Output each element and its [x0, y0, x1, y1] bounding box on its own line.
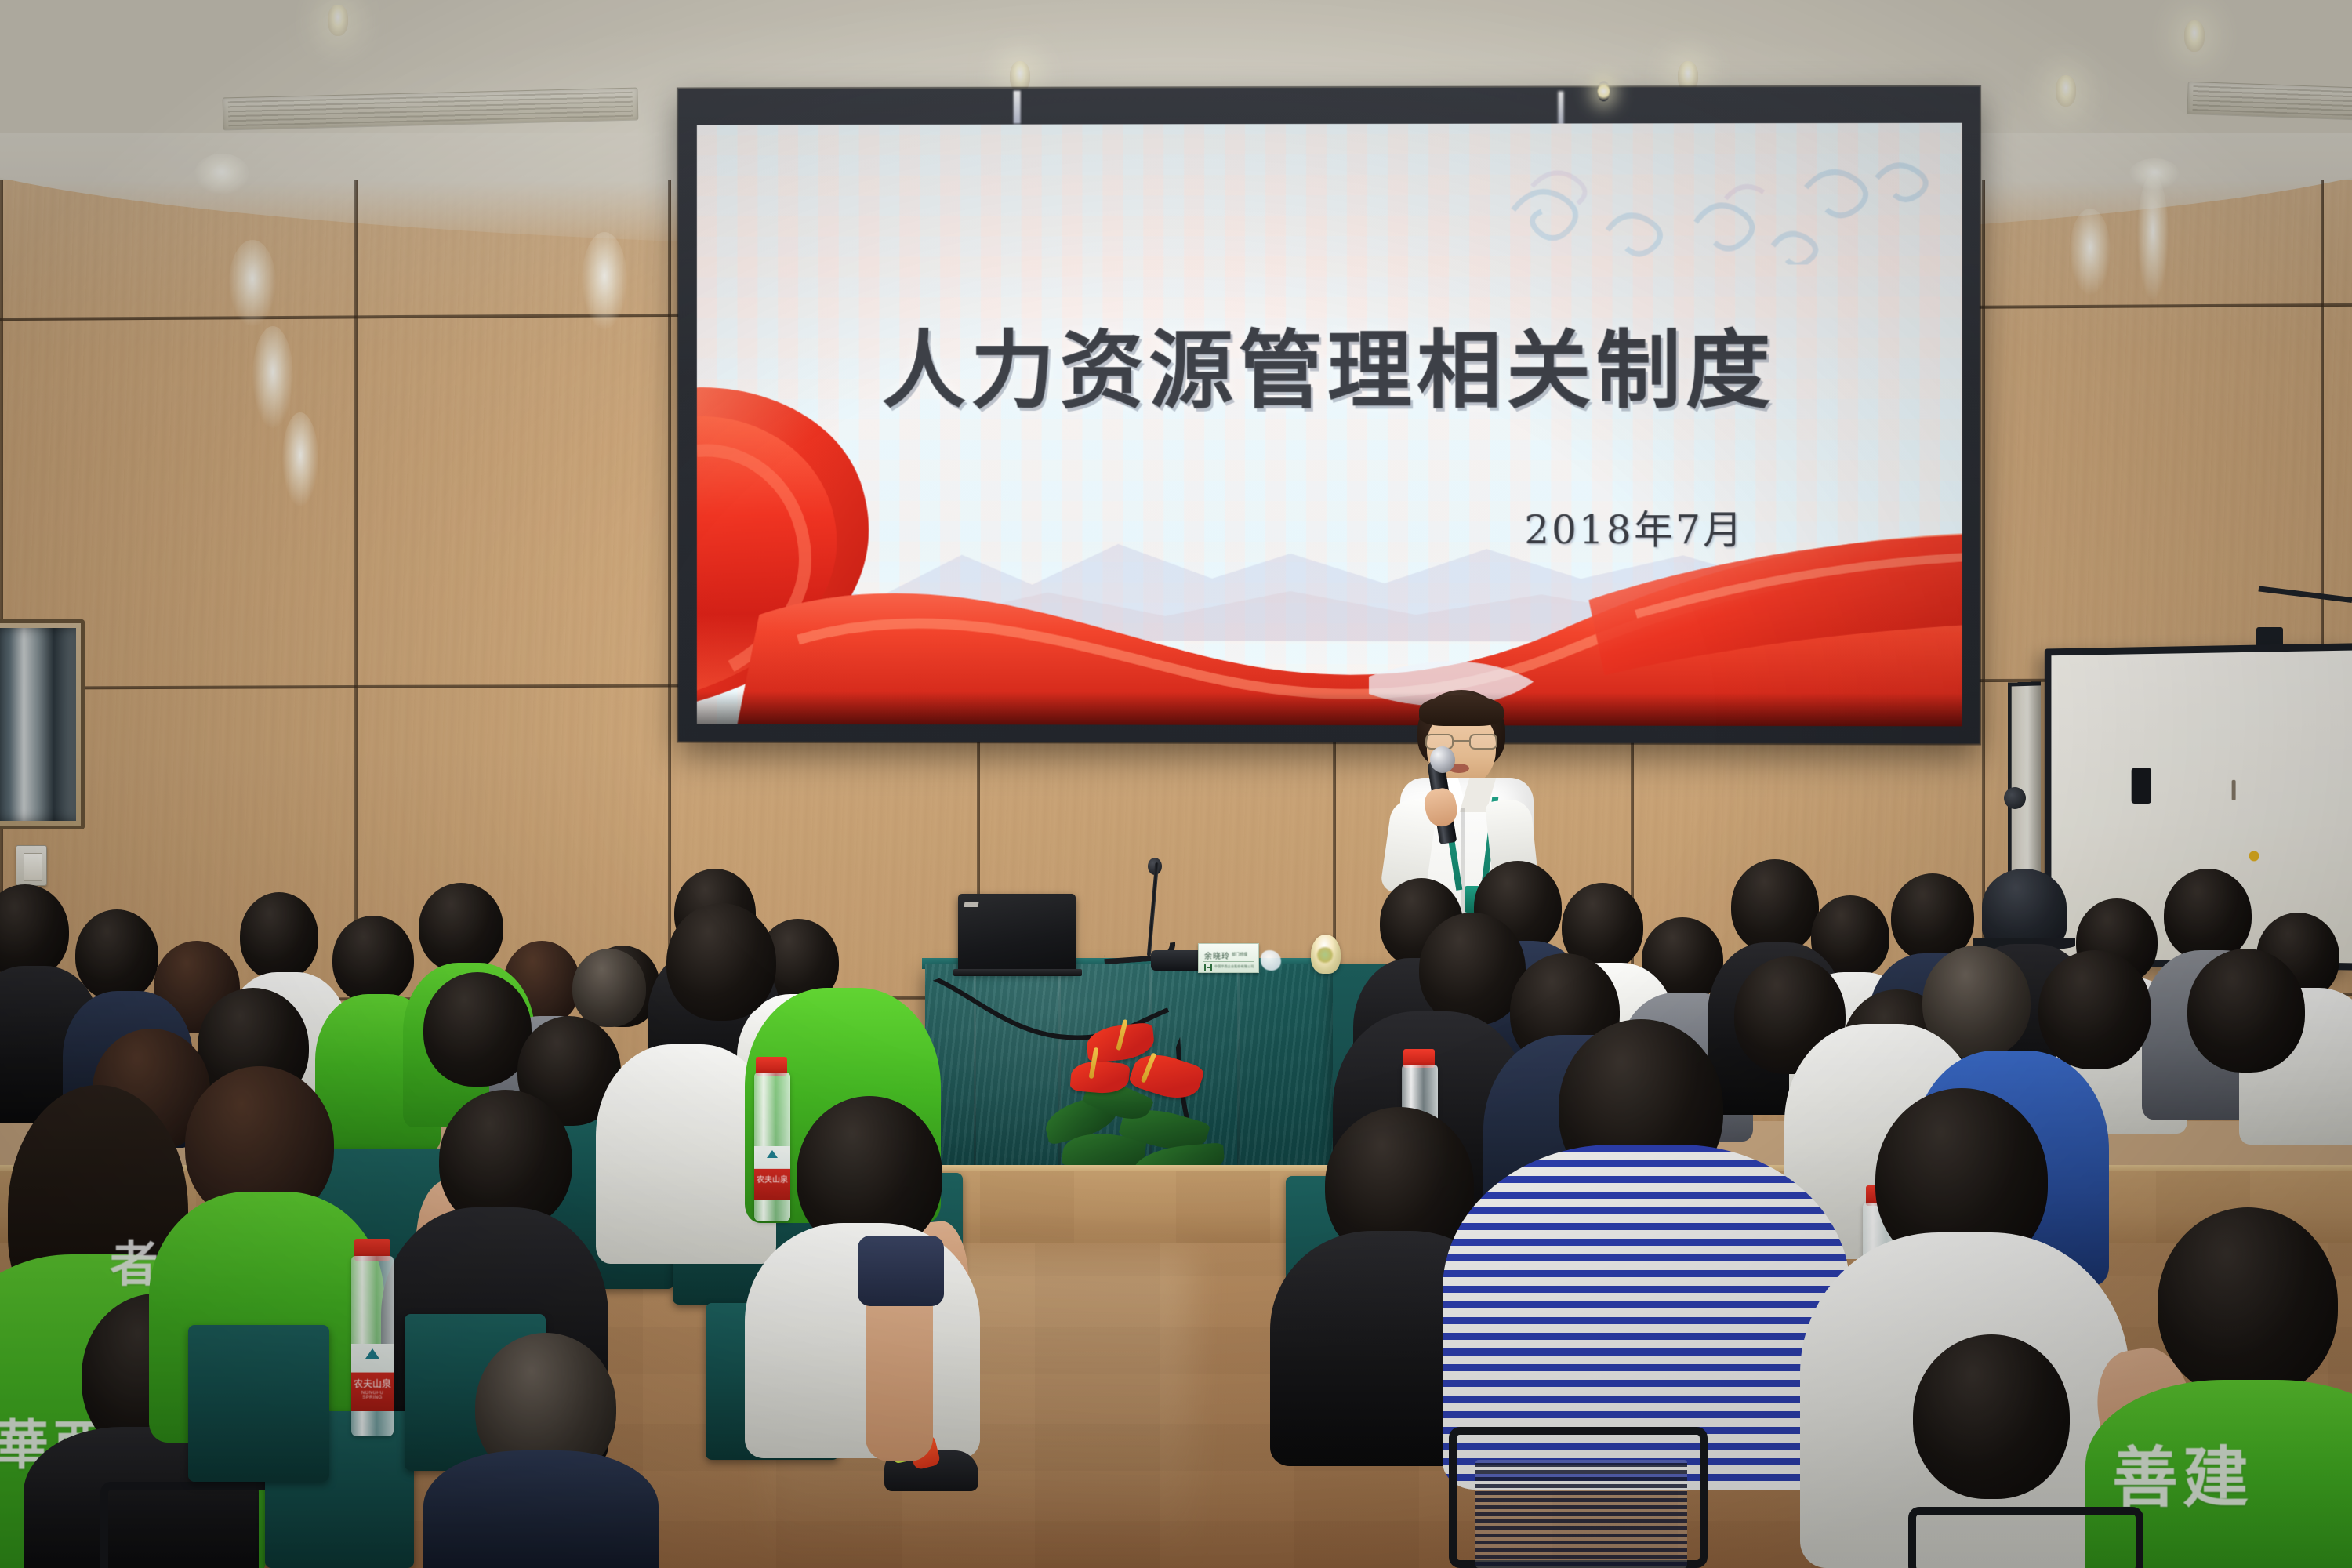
wall-reflection: [252, 326, 293, 428]
light-switch[interactable]: [16, 845, 47, 886]
name-card-role: 部门经理: [1232, 952, 1247, 957]
air-vent-icon: [2187, 82, 2352, 121]
wall-reflection: [229, 240, 276, 326]
red-ribbon-graphic: [697, 365, 1962, 727]
window-glass: [0, 628, 76, 821]
audience-head: [2164, 869, 2252, 961]
laptop-logo-icon: [964, 902, 978, 907]
photo-scene: 人力资源管理相关制度 2018年7月: [0, 0, 2352, 1568]
bottle-brand: 农夫山泉: [351, 1377, 394, 1390]
name-card-org: 中国华西企业股份有限公司: [1214, 964, 1254, 969]
bottle-logo-icon: [767, 1150, 778, 1158]
glasses-bridge: [1454, 740, 1469, 742]
chair-frame[interactable]: [1908, 1507, 2143, 1568]
cloud-swirl-icon: [1490, 154, 1930, 265]
wall-reflection: [2070, 209, 2111, 295]
audience-head: [419, 883, 503, 972]
audience-shorts: [858, 1236, 944, 1306]
bottle-label: 农夫山泉: [754, 1146, 790, 1200]
presenter-fringe: [1419, 695, 1504, 726]
bezel-highlight: [1014, 91, 1021, 124]
wall-reflection: [282, 412, 318, 506]
audience-head: [1913, 1334, 2070, 1499]
bottle-label: 农夫山泉 NONGFU SPRING: [351, 1344, 394, 1411]
laptop[interactable]: [958, 894, 1076, 972]
bottle-body: 农夫山泉 NONGFU SPRING: [351, 1256, 394, 1436]
audience-head: [1731, 859, 1819, 953]
audience-head: [75, 909, 158, 1000]
chair-mesh-seat: [1475, 1460, 1687, 1568]
projection-screen[interactable]: 人力资源管理相关制度 2018年7月: [678, 86, 1980, 743]
air-vent-icon: [223, 88, 639, 131]
audience-head: [332, 916, 414, 1004]
screen-vignette: [697, 691, 1962, 727]
whiteboard-knob[interactable]: [2004, 787, 2026, 809]
audience-head: [666, 903, 776, 1021]
bottle-logo-icon: [365, 1348, 379, 1359]
bottle-brand: 农夫山泉: [754, 1173, 790, 1185]
chair-frame[interactable]: [100, 1482, 289, 1568]
downlight-icon: [2056, 75, 2076, 107]
bottle-brand-en: NONGFU SPRING: [351, 1391, 394, 1400]
chair-back[interactable]: [188, 1325, 329, 1482]
audience-head: [2038, 950, 2151, 1069]
downlight-icon: [328, 5, 348, 36]
desk-name-card: 余晓玲 部门经理 中国华西企业股份有限公司: [1198, 943, 1259, 973]
audience-head: [240, 892, 318, 980]
whiteboard-magnet-icon[interactable]: [2132, 768, 2151, 804]
audience-head: [423, 972, 532, 1087]
glasses-lens-right: [1469, 734, 1497, 750]
name-card-divider: [1203, 961, 1254, 962]
audience-head: [2187, 949, 2305, 1073]
audience-torso: [423, 1450, 659, 1568]
name-card-name: 余晓玲: [1204, 949, 1230, 961]
downlight-icon: [2184, 20, 2205, 52]
audience-head: [2158, 1207, 2338, 1399]
slide-surface: 人力资源管理相关制度 2018年7月: [697, 123, 1962, 727]
audience-head: [572, 949, 646, 1027]
whiteboard-mark: [2232, 780, 2236, 800]
audience-cap-icon: [1982, 869, 2067, 946]
uniform-slogan-right: 善建: [2112, 1425, 2253, 1520]
side-window: [0, 619, 85, 829]
company-logo-icon: [1204, 964, 1212, 971]
bottle-body: 农夫山泉: [754, 1073, 790, 1221]
whiteboard-sticker-icon: [2249, 851, 2259, 861]
bezel-lamp-reflection: [1598, 81, 1610, 101]
